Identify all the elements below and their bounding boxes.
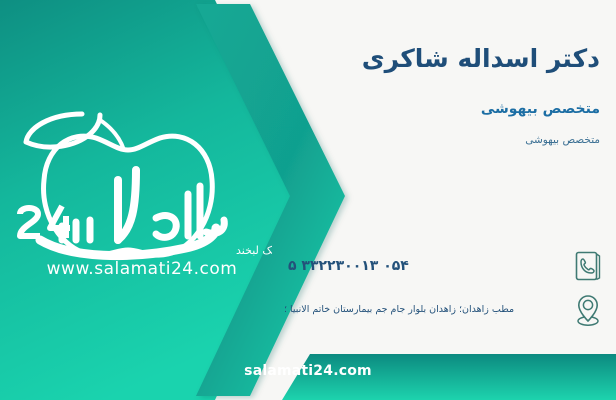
salamati24-logo: به راحتی یک لبخند www.salamati24.com bbox=[10, 108, 272, 278]
logo-url: www.salamati24.com bbox=[47, 259, 238, 278]
phone-number[interactable]: ۰۵۴ ۳۳۲۲۳۰۰۱۳ ۵ bbox=[278, 258, 568, 274]
clinic-address[interactable]: مطب زاهدان؛ زاهدان بلوار جام جم بیمارستا… bbox=[278, 304, 568, 316]
card-content: دکتر اسداله شاکری متخصص بیهوشی متخصص بیه… bbox=[266, 0, 616, 400]
contact-row-phone[interactable]: ۰۵۴ ۳۳۲۲۳۰۰۱۳ ۵ bbox=[278, 248, 608, 284]
doctor-specialty-main: متخصص بیهوشی bbox=[288, 101, 600, 117]
map-pin-icon bbox=[568, 290, 608, 330]
business-card: به راحتی یک لبخند www.salamati24.com دکت… bbox=[0, 0, 616, 400]
footer-bar: salamati24.com bbox=[0, 354, 616, 400]
footer-website[interactable]: salamati24.com bbox=[0, 363, 616, 379]
doctor-name: دکتر اسداله شاکری bbox=[288, 44, 600, 73]
doctor-specialty-sub: متخصص بیهوشی bbox=[288, 134, 600, 146]
contact-row-address[interactable]: مطب زاهدان؛ زاهدان بلوار جام جم بیمارستا… bbox=[278, 290, 608, 330]
phonebook-icon bbox=[568, 246, 608, 286]
